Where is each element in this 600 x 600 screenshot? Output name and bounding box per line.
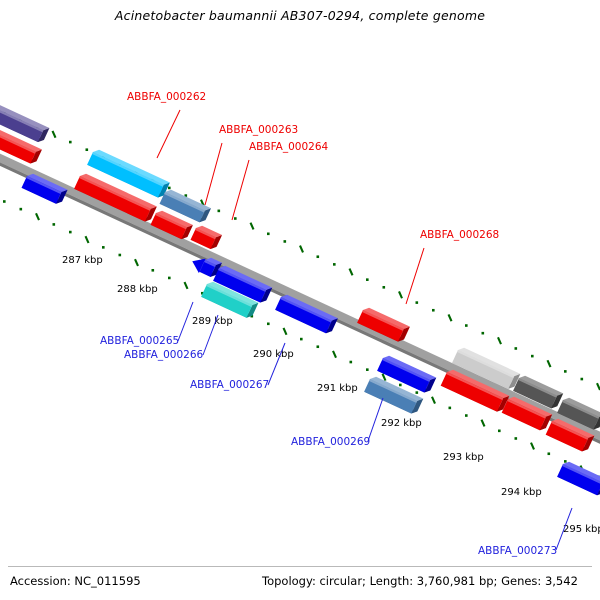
green-tick-dot — [581, 378, 584, 381]
green-tick-dot — [416, 391, 419, 394]
green-tick-dash — [383, 374, 386, 381]
green-tick-dot — [168, 187, 171, 190]
green-tick-dot — [564, 370, 567, 373]
green-tick-dash — [251, 223, 254, 230]
green-tick-dot — [317, 345, 320, 348]
green-tick-dash — [86, 236, 89, 243]
tick-label-289-kbp: 289 kbp — [192, 316, 233, 327]
green-tick-dash — [350, 269, 353, 276]
green-tick-dot — [399, 384, 402, 387]
callout-line-ABBFA_000268 — [406, 248, 424, 304]
genome-map-graphic[interactable]: 287 kbp288 kbp289 kbp290 kbp291 kbp292 k… — [0, 0, 600, 600]
tick-label-292-kbp: 292 kbp — [381, 418, 422, 429]
green-tick-dot — [69, 141, 72, 144]
gene-blue-273[interactable] — [557, 460, 600, 497]
gene-label-ABBFA_000266[interactable]: ABBFA_000266 — [124, 349, 204, 361]
green-tick-dash — [53, 131, 56, 138]
green-tick-dash — [531, 443, 534, 450]
green-tick-dot — [383, 286, 386, 289]
green-tick-dot — [564, 460, 567, 463]
green-tick-dot — [86, 148, 89, 151]
green-tick-dash — [548, 360, 551, 367]
green-tick-dash — [36, 213, 39, 220]
green-tick-dot — [548, 452, 551, 455]
green-tick-dash — [300, 246, 303, 253]
tick-label-290-kbp: 290 kbp — [253, 349, 294, 360]
green-tick-dot — [3, 200, 6, 203]
green-tick-dot — [465, 324, 468, 327]
gene-label-ABBFA_000268[interactable]: ABBFA_000268 — [420, 229, 499, 241]
tick-label-288-kbp: 288 kbp — [117, 284, 158, 295]
gene-label-ABBFA_000267[interactable]: ABBFA_000267 — [190, 379, 269, 391]
green-tick-dot — [366, 278, 369, 281]
callout-line-ABBFA_000265 — [178, 302, 193, 341]
gene-label-ABBFA_000269[interactable]: ABBFA_000269 — [291, 436, 370, 448]
callout-line-ABBFA_000263 — [205, 143, 222, 205]
accession-text: Accession: NC_011595 — [10, 574, 141, 588]
green-tick-dot — [366, 368, 369, 371]
gene-label-ABBFA_000262[interactable]: ABBFA_000262 — [127, 91, 206, 103]
green-tick-dash — [135, 259, 138, 266]
callout-line-ABBFA_000264 — [232, 160, 249, 220]
green-tick-dash — [185, 282, 188, 289]
green-tick-dot — [482, 332, 485, 335]
green-tick-dot — [102, 246, 105, 249]
gene-label-ABBFA_000265[interactable]: ABBFA_000265 — [100, 335, 179, 347]
green-tick-dot — [152, 269, 155, 272]
green-tick-dash — [498, 337, 501, 344]
green-tick-dot — [267, 323, 270, 326]
green-tick-dash — [284, 328, 287, 335]
gene-label-ABBFA_000273[interactable]: ABBFA_000273 — [478, 545, 557, 557]
green-tick-dot — [53, 223, 56, 226]
green-tick-dot — [284, 240, 287, 243]
green-tick-dot — [69, 231, 72, 234]
tick-label-294-kbp: 294 kbp — [501, 487, 542, 498]
green-tick-dash — [333, 351, 336, 358]
green-tick-dot — [218, 210, 221, 213]
green-tick-dot — [498, 430, 501, 433]
green-tick-dot — [531, 355, 534, 358]
green-tick-dot — [300, 338, 303, 341]
footer-divider — [8, 566, 592, 567]
green-tick-dash — [482, 420, 485, 427]
green-tick-dot — [234, 217, 237, 220]
tick-label-291-kbp: 291 kbp — [317, 383, 358, 394]
genome-stats-text: Topology: circular; Length: 3,760,981 bp… — [262, 574, 578, 588]
green-tick-dash — [432, 397, 435, 404]
green-tick-dot — [416, 301, 419, 304]
green-tick-dot — [119, 254, 122, 257]
green-tick-dot — [350, 361, 353, 364]
green-tick-dot — [317, 255, 320, 258]
green-tick-dot — [515, 347, 518, 350]
tick-label-287-kbp: 287 kbp — [62, 255, 103, 266]
green-tick-dot — [267, 233, 270, 236]
green-tick-dot — [333, 263, 336, 266]
tick-label-295-kbp: 295 kbp — [563, 524, 600, 535]
green-tick-dot — [168, 277, 171, 280]
green-tick-dot — [515, 437, 518, 440]
gene-label-ABBFA_000263[interactable]: ABBFA_000263 — [219, 124, 298, 136]
genome-browser-viewport: Acinetobacter baumannii AB307-0294, comp… — [0, 0, 600, 600]
tick-label-293-kbp: 293 kbp — [443, 452, 484, 463]
green-tick-dot — [465, 414, 468, 417]
green-tick-dot — [449, 407, 452, 410]
callout-line-ABBFA_000262 — [157, 110, 180, 158]
green-tick-dash — [399, 291, 402, 298]
green-tick-dot — [20, 208, 23, 211]
gene-label-ABBFA_000264[interactable]: ABBFA_000264 — [249, 141, 329, 153]
green-tick-dash — [449, 314, 452, 321]
green-tick-dot — [432, 309, 435, 312]
